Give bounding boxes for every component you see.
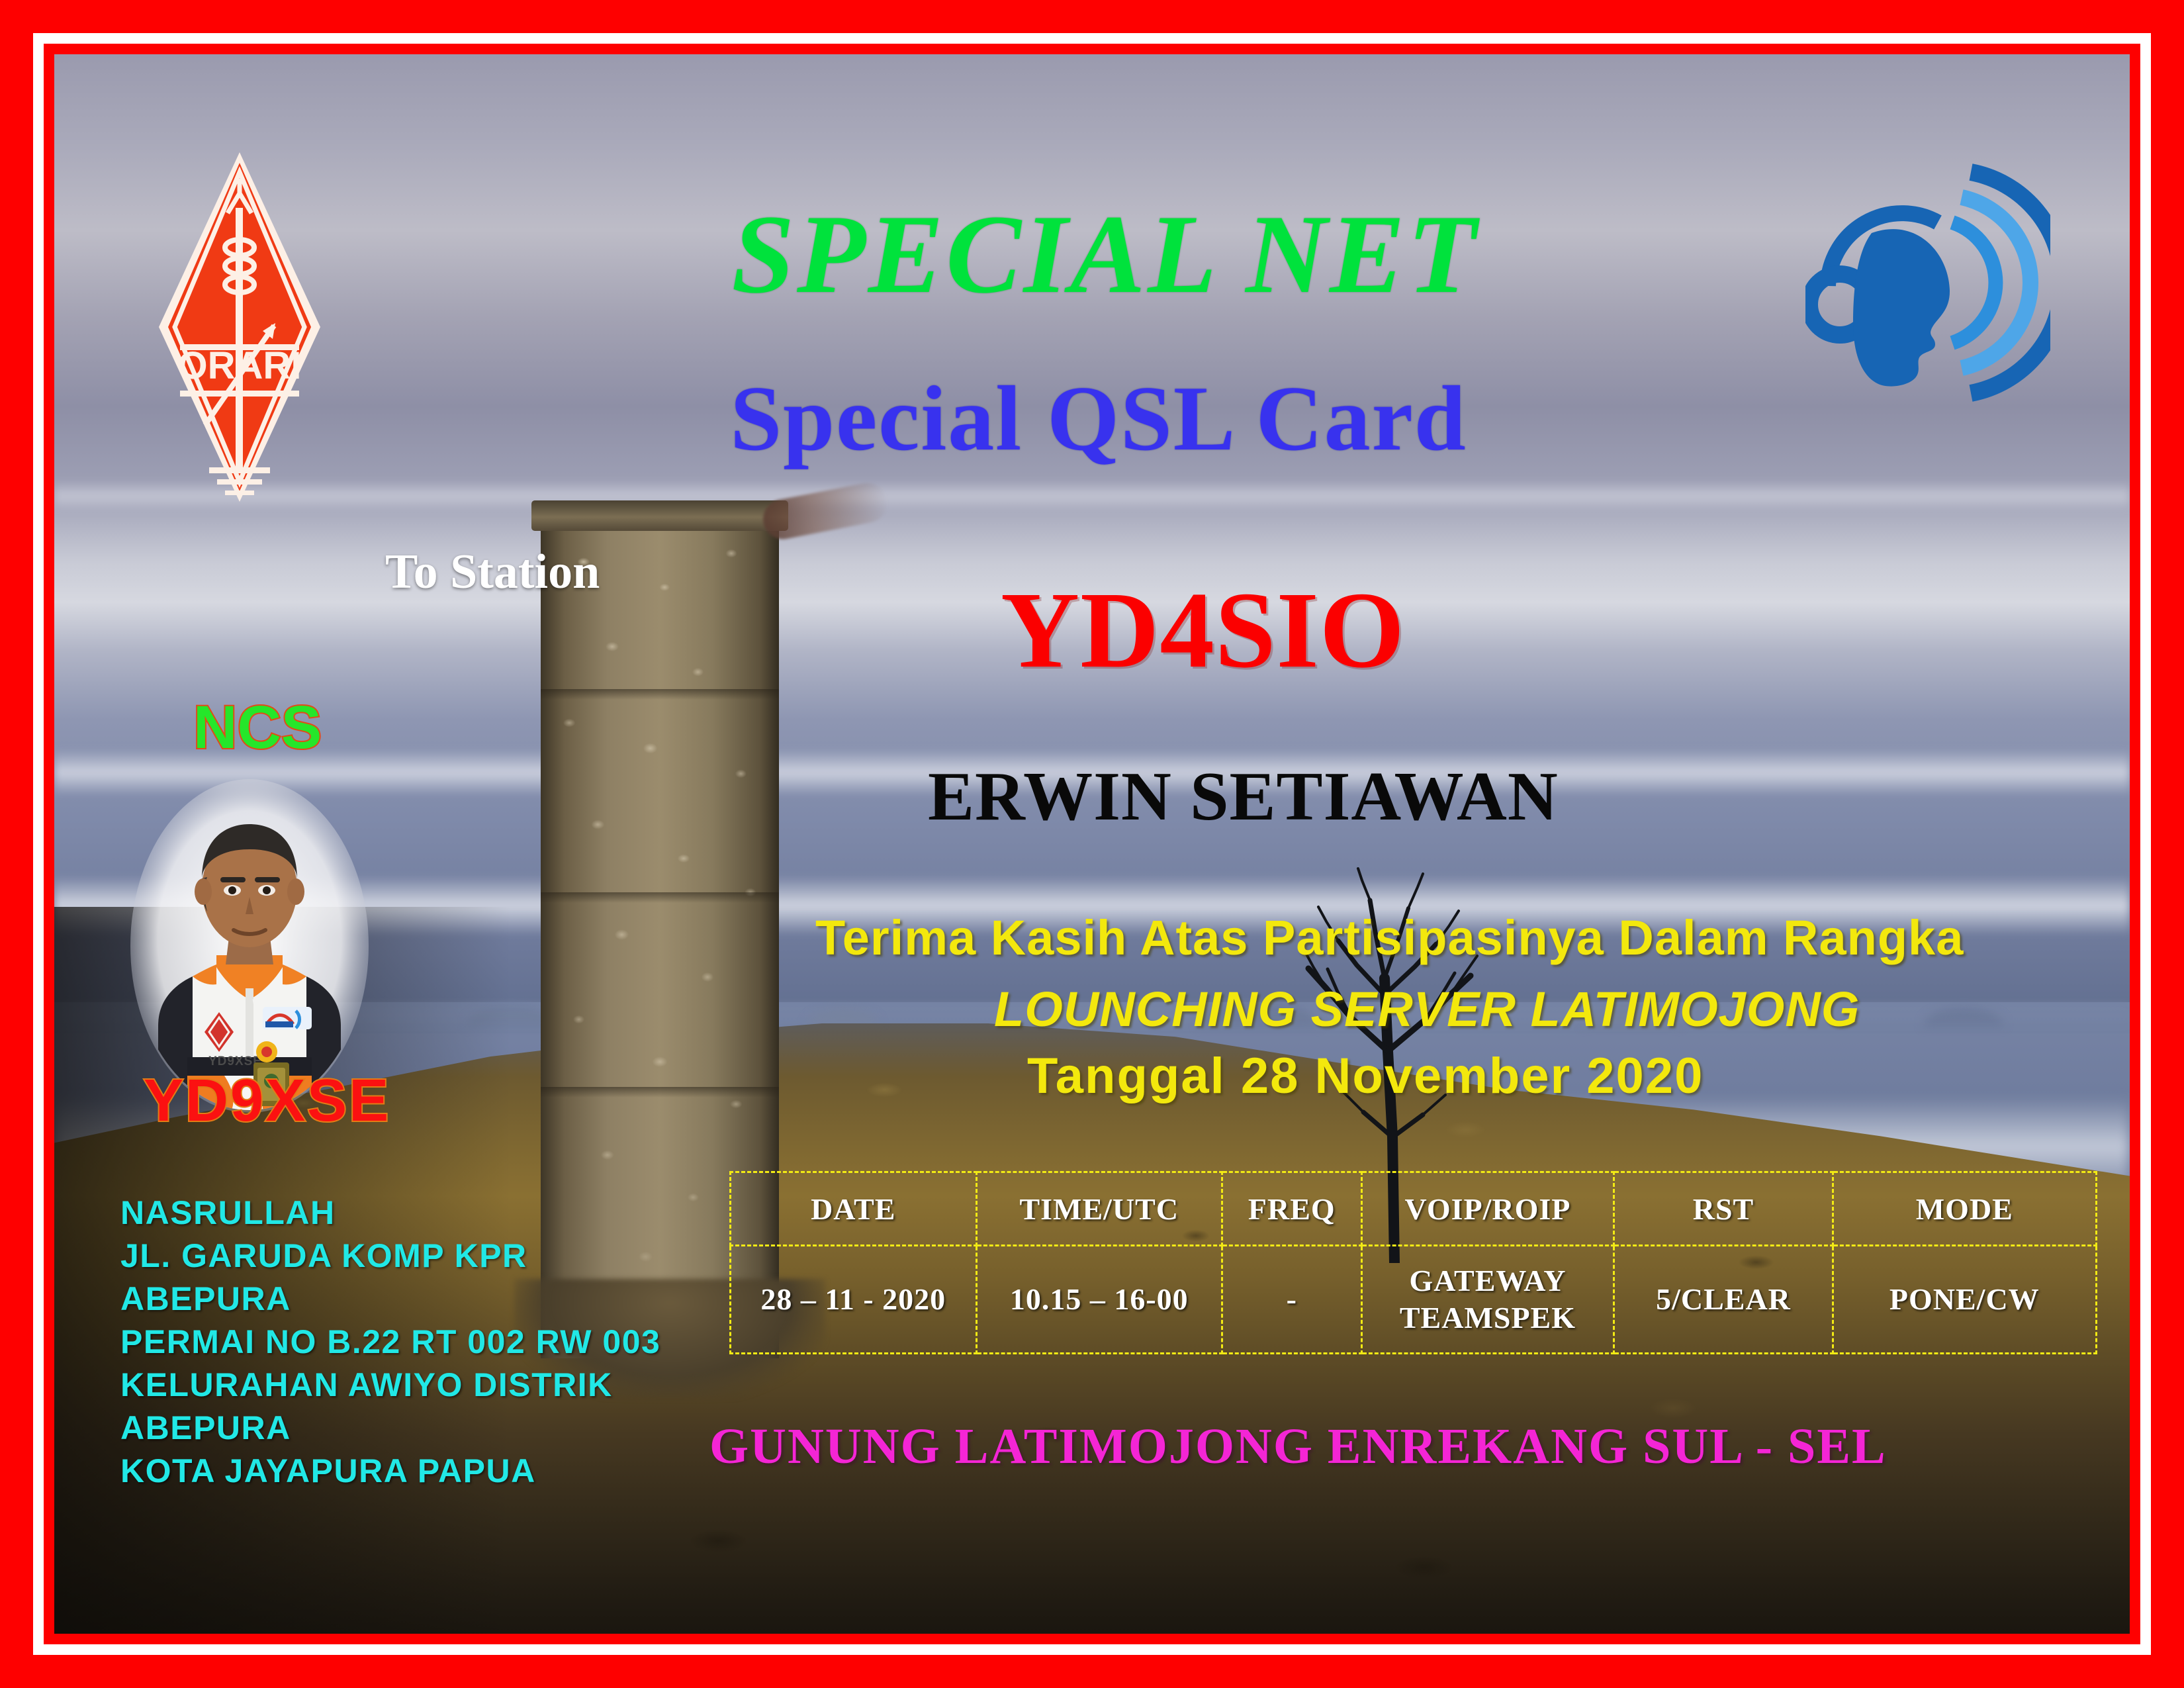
address-line: KELURAHAN AWIYO DISTRIK bbox=[120, 1364, 660, 1407]
pillar-mortar-band bbox=[541, 892, 779, 903]
page-subtitle: Special QSL Card bbox=[54, 365, 2130, 472]
cell-rst: 5/CLEAR bbox=[1614, 1246, 1833, 1354]
operator-name: ERWIN SETIAWAN bbox=[928, 756, 1559, 836]
event-date-line: Tanggal 28 November 2020 bbox=[1027, 1047, 1704, 1105]
qsl-card: ORARI SPECIAL NET Special QSL Card To St… bbox=[0, 0, 2184, 1688]
pillar-mortar-band bbox=[541, 689, 779, 700]
footer-web-address: Address : amatir.latimojong.com bbox=[1328, 1631, 2034, 1634]
cell-time: 10.15 – 16-00 bbox=[976, 1246, 1222, 1354]
event-launch-line: LOUNCHING SERVER LATIMOJONG bbox=[994, 981, 1860, 1037]
avatar: YD9XSE bbox=[124, 766, 375, 1117]
address-line: NASRULLAH bbox=[120, 1192, 660, 1235]
pillar-mortar-band bbox=[541, 1087, 779, 1098]
pillar-cap bbox=[531, 500, 788, 531]
address-line: PERMAI NO B.22 RT 002 RW 003 bbox=[120, 1321, 660, 1364]
table-row: 28 – 11 - 2020 10.15 – 16-00 - GATEWAYTE… bbox=[731, 1246, 2097, 1354]
cell-date: 28 – 11 - 2020 bbox=[731, 1246, 977, 1354]
table-header-time: TIME/UTC bbox=[976, 1172, 1222, 1246]
table-header-row: DATE TIME/UTC FREQ VOIP/ROIP RST MODE bbox=[731, 1172, 2097, 1246]
table-header-date: DATE bbox=[731, 1172, 977, 1246]
to-station-label: To Station bbox=[385, 544, 600, 600]
address-line: ABEPURA bbox=[120, 1278, 660, 1321]
cell-mode: PONE/CW bbox=[1833, 1246, 2096, 1354]
station-callsign: YD4SIO bbox=[1001, 567, 1405, 693]
footer-slogan: "AMATIR RADIO ADALAH PROGRESIVE" bbox=[130, 1631, 1140, 1634]
page-title: SPECIAL NET bbox=[54, 190, 2130, 319]
cloud-streak bbox=[54, 481, 2130, 511]
table-header-voip: VOIP/ROIP bbox=[1361, 1172, 1614, 1246]
cell-freq: - bbox=[1222, 1246, 1362, 1354]
address-block: NASRULLAH JL. GARUDA KOMP KPR ABEPURA PE… bbox=[120, 1192, 660, 1493]
ncs-role-label: NCS bbox=[193, 693, 322, 763]
event-thanks-line: Terima Kasih Atas Partisipasinya Dalam R… bbox=[815, 910, 1964, 966]
address-line: ABEPURA bbox=[120, 1407, 660, 1450]
table-header-mode: MODE bbox=[1833, 1172, 2096, 1246]
table-header-rst: RST bbox=[1614, 1172, 1833, 1246]
qso-table: DATE TIME/UTC FREQ VOIP/ROIP RST MODE 28… bbox=[729, 1171, 2097, 1354]
ncs-callsign: YD9XSE bbox=[144, 1067, 390, 1135]
address-line: KOTA JAYAPURA PAPUA bbox=[120, 1450, 660, 1493]
table-header-freq: FREQ bbox=[1222, 1172, 1362, 1246]
address-line: JL. GARUDA KOMP KPR bbox=[120, 1235, 660, 1278]
card-photo-stage: ORARI SPECIAL NET Special QSL Card To St… bbox=[54, 54, 2130, 1634]
cell-voip: GATEWAYTEAMSPEK bbox=[1361, 1246, 1614, 1354]
location-line: GUNUNG LATIMOJONG ENREKANG SUL - SEL bbox=[709, 1418, 1887, 1476]
